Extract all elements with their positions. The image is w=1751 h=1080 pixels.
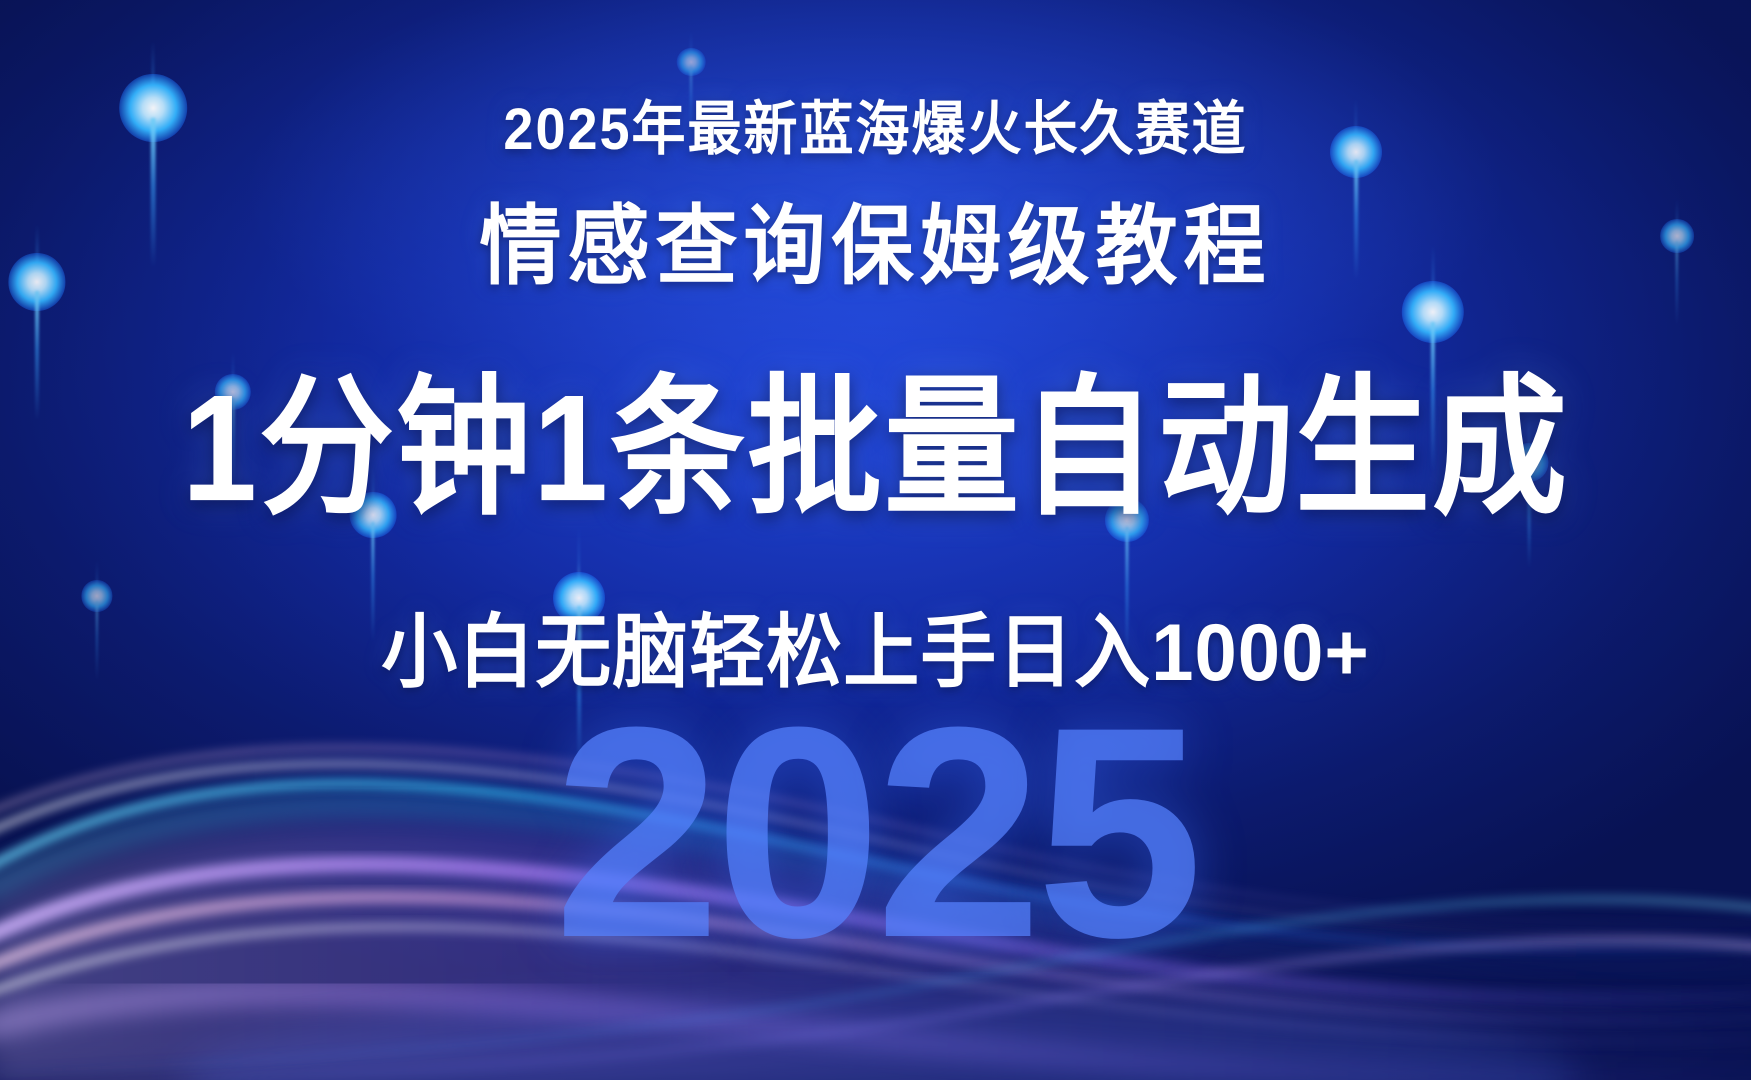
ribbon-white-upper — [0, 764, 1751, 937]
benefit-text: 小白无脑轻松上手日入1000+ — [0, 587, 1751, 704]
ribbon-purple-right — [0, 940, 1751, 1080]
ribbon-cyan-upper — [0, 784, 1751, 950]
eyebrow-text: 2025年最新蓝海爆火长久赛道 — [0, 81, 1751, 166]
promo-poster: 2025 2025年最新蓝海爆火长久赛道 情感查询保姆级教程 1分钟1条批量自动… — [0, 0, 1751, 1080]
ribbon-white-main — [0, 927, 1751, 1041]
ribbon-pink-upper — [0, 748, 1751, 924]
ribbon-purple-lower — [0, 993, 1751, 1080]
headline-stack: 2025年最新蓝海爆火长久赛道 情感查询保姆级教程 1分钟1条批量自动生成 小白… — [0, 0, 1751, 700]
ribbon-cyan-upper-glow — [0, 804, 1751, 963]
ribbon-haze-purple — [0, 821, 1751, 1080]
year-watermark: 2025 — [0, 690, 1751, 975]
ribbon-purple-main — [0, 864, 1751, 998]
subtitle-text: 情感查询保姆级教程 — [0, 175, 1751, 301]
ribbon-cyan-right — [0, 899, 1751, 1072]
main-headline: 1分钟1条批量自动生成 — [0, 324, 1751, 544]
ribbon-pink-main — [0, 897, 1751, 1020]
ribbon-bottom-glow — [180, 990, 1580, 1080]
